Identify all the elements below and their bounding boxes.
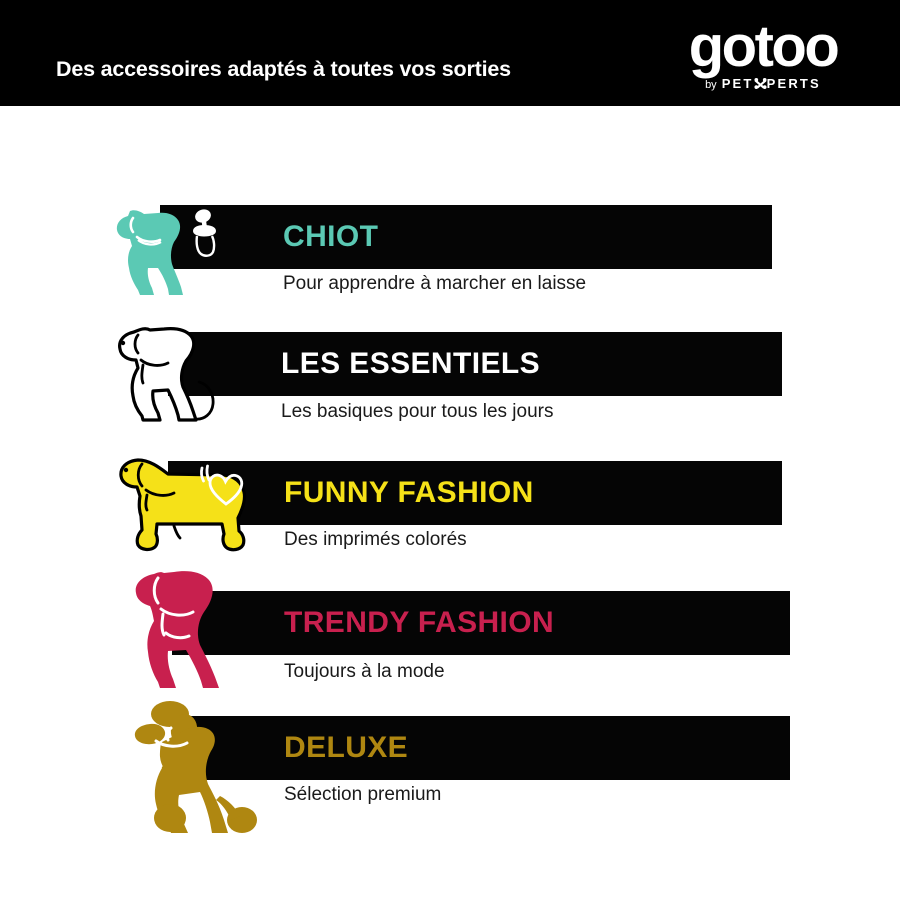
poodle-sitting-icon	[132, 700, 272, 836]
infographic-page: Des accessoires adaptés à toutes vos sor…	[0, 0, 900, 900]
category-title-deluxe: DELUXE	[284, 716, 408, 780]
category-subtitle-deluxe: Sélection premium	[284, 784, 441, 806]
category-row-deluxe[interactable]: DELUXE Sélection premium	[0, 0, 900, 900]
